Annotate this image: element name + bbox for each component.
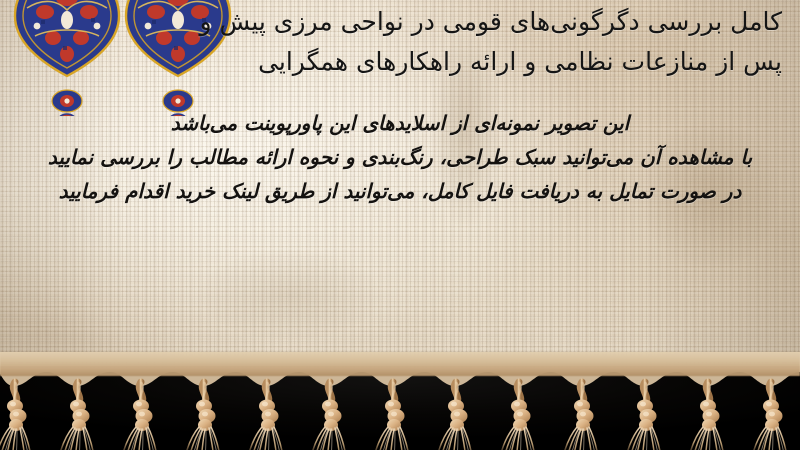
slide-canvas: کامل بررسی دگرگونی‌های قومی در نواحی مرز… (0, 0, 800, 450)
carpet-edge-band (0, 352, 800, 376)
title-line-2: پس از منازعات نظامی و ارائه راهکارهای هم… (10, 42, 782, 82)
slide-body: این تصویر نمونه‌ای از اسلایدهای این پاور… (0, 106, 800, 208)
body-line-3: در صورت تمایل به دریافت فایل کامل، می‌تو… (0, 174, 800, 208)
carpet-fringe (0, 352, 800, 450)
slide-title: کامل بررسی دگرگونی‌های قومی در نواحی مرز… (10, 2, 782, 82)
body-line-2: با مشاهده آن می‌توانید سبک طراحی، رنگ‌بن… (0, 140, 800, 174)
body-line-1: این تصویر نمونه‌ای از اسلایدهای این پاور… (0, 106, 800, 140)
title-line-1: کامل بررسی دگرگونی‌های قومی در نواحی مرز… (10, 2, 782, 42)
